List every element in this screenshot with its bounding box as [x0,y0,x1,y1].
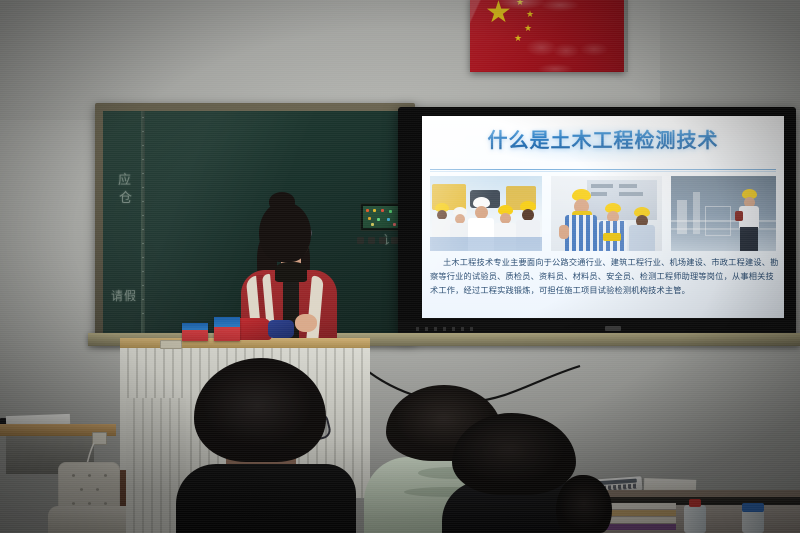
led-indicator [373,209,376,212]
student-shirt [176,464,356,533]
led-indicator [366,209,369,212]
podium-outlet[interactable] [160,340,182,349]
display-screen[interactable]: 什么是土木工程检测技术 [422,116,784,318]
led-indicator [377,218,380,221]
held-folder [735,211,743,221]
product-box [214,317,240,341]
worker-figure [599,203,627,251]
slide-divider [430,169,776,170]
chair-tuft [88,502,91,505]
photo-foreground [430,237,542,251]
panel-line [619,192,643,196]
chair-tuft [72,474,75,477]
interactive-display[interactable]: 什么是土木工程检测技术 [398,107,796,335]
slide-body-text: 土木工程技术专业主要面向于公路交通行业、建筑工程行业、机场建设、市政工程建设、勘… [430,255,776,311]
flag-edge [624,0,628,72]
slide-photo-row [430,176,776,251]
worker-figure [629,207,655,251]
control-panel-buttons[interactable] [357,236,403,246]
display-control-keys[interactable] [416,327,476,331]
display-brand-logo [605,326,621,331]
thumbs-up-hand [559,225,569,239]
chair-arm [48,506,132,533]
china-flag: ★ ★ ★ ★ ★ [470,0,625,72]
blue-bag [268,320,294,338]
panel-line [591,184,613,188]
worker-torso [629,225,655,251]
bottle-cap [689,499,701,507]
bottle-body [684,505,706,533]
box-top-label [214,317,240,327]
panel-button[interactable] [368,237,375,244]
plaid-shirt [565,215,597,251]
box-top-label [182,323,208,330]
slide-photo-1 [430,176,542,251]
led-indicator [381,209,384,212]
panel-line [619,184,637,188]
chair [48,462,132,533]
held-hard-hat [603,233,621,241]
slide-body-line-2: 察等行业的试验员、质检员、资料员、材料员、安全员、检测工程师助理等岗位，从事相关… [430,269,776,283]
water-bottle-blue-cap[interactable] [742,503,764,533]
slide-title: 什么是土木工程检测技术 [422,124,784,153]
chair-tuft [72,502,75,505]
slide-photo-2 [551,176,663,251]
presentation-slide: 什么是土木工程检测技术 [422,116,784,318]
presenter-hair [259,202,311,262]
flag-glare [470,0,625,72]
chair-tuft [80,488,83,491]
student-black-shirt-glasses [176,358,356,533]
led-indicator [371,223,374,226]
presenter-collar [275,262,307,282]
slide-body-line-1: 土木工程技术专业主要面向于公路交通行业、建筑工程行业、机场建设、市政工程建设、勘 [430,255,776,269]
chair-tuft [104,474,107,477]
student-hair [452,413,576,495]
panel-button[interactable] [391,237,398,244]
panel-button[interactable] [357,237,364,244]
dark-trousers [740,227,758,251]
slide-divider-secondary [430,171,776,172]
bottle-cap [742,503,764,512]
chair-tuft [96,488,99,491]
led-indicator [387,218,390,221]
classroom-scene: ★ ★ ★ ★ ★ 应 仓 请假 讠 [0,0,800,533]
presenter-hair-bun [269,192,295,211]
podium-boxes [182,315,252,341]
chair-tuft [88,474,91,477]
led-indicator [393,223,396,226]
led-indicator [389,210,392,213]
product-box [182,323,208,341]
chair-tuft [104,502,107,505]
worker-thumbs-up [565,189,597,251]
slide-body-line-3: 术工作，经过工程实践锻炼，可担任施工项目试验检测机构技术主管。 [430,283,776,297]
led-indicator [368,217,371,220]
student-hair [194,358,326,462]
panel-button[interactable] [379,237,386,244]
control-panel-board [363,206,401,228]
wall-right [660,0,800,110]
slide-photo-3 [671,176,776,251]
engineer-figure [737,189,761,251]
presenter-hands [295,314,317,332]
water-bottle-red-cap[interactable] [684,499,706,533]
